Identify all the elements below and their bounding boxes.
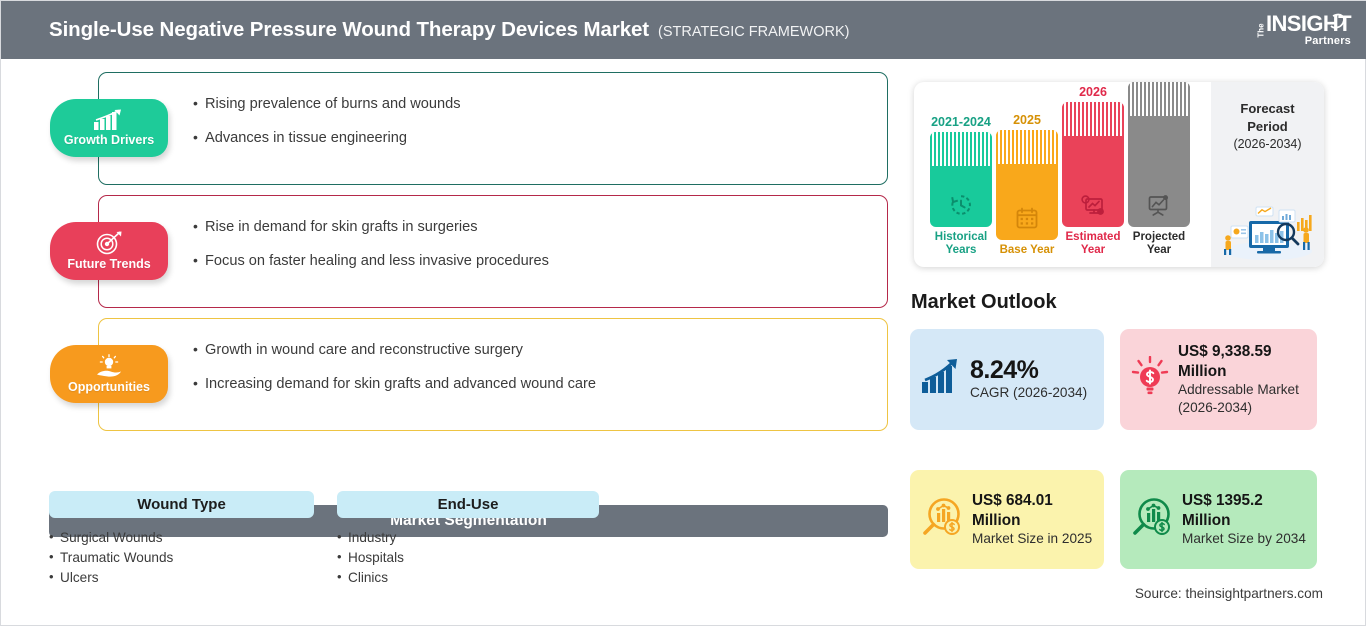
forecast-bars-area: 2021-2024 Historical Years bbox=[914, 82, 1211, 267]
segmentation-column-title-text: End-Use bbox=[438, 496, 499, 513]
page-title: Single-Use Negative Pressure Wound Thera… bbox=[49, 18, 649, 42]
forecast-period-title-line2: Period bbox=[1247, 119, 1287, 134]
driver-badge-opportunities[interactable]: Opportunities bbox=[50, 345, 168, 403]
bullet-item: Rise in demand for skin grafts in surger… bbox=[193, 217, 549, 238]
outlook-card-value: US$ 9,338.59 Million bbox=[1178, 342, 1307, 381]
bar-stripes bbox=[930, 132, 992, 166]
bullet-item: Increasing demand for skin grafts and ad… bbox=[193, 374, 596, 395]
segmentation-column-wound-type: Wound Type Surgical Wounds Traumatic Wou… bbox=[49, 491, 314, 588]
segmentation-column-end-use: End-Use Industry Hospitals Clinics bbox=[337, 491, 599, 588]
list-item: Industry bbox=[337, 528, 599, 548]
bullet-item: Advances in tissue engineering bbox=[193, 128, 461, 149]
logo-the-text: The bbox=[1256, 22, 1265, 38]
header-title-wrap: Single-Use Negative Pressure Wound Thera… bbox=[49, 18, 850, 42]
segmentation-column-title: Wound Type bbox=[49, 491, 314, 518]
forecast-bar-historical-years: 2021-2024 Historical Years bbox=[930, 115, 992, 257]
source-attribution: Source: theinsightpartners.com bbox=[1135, 586, 1323, 601]
outlook-card-market-size-2034[interactable]: US$ 1395.2 Million Market Size by 2034 bbox=[1120, 470, 1317, 569]
driver-badge-label: Future Trends bbox=[67, 257, 150, 271]
list-item: Surgical Wounds bbox=[49, 528, 314, 548]
page-header: Single-Use Negative Pressure Wound Thera… bbox=[1, 1, 1366, 59]
forecast-period-range: (2026-2034) bbox=[1211, 137, 1324, 151]
target-dart-icon bbox=[94, 231, 124, 255]
outlook-card-desc: Market Size by 2034 bbox=[1182, 530, 1307, 548]
list-item: Traumatic Wounds bbox=[49, 548, 314, 568]
calendar-icon bbox=[1015, 206, 1039, 230]
driver-bullets-growth-drivers: Rising prevalence of burns and wounds Ad… bbox=[193, 94, 461, 162]
segmentation-list: Industry Hospitals Clinics bbox=[337, 528, 599, 588]
outlook-card-market-size-2025[interactable]: US$ 684.01 Million Market Size in 2025 bbox=[910, 470, 1104, 569]
outlook-card-text: US$ 1395.2 Million Market Size by 2034 bbox=[1182, 491, 1307, 548]
list-item: Hospitals bbox=[337, 548, 599, 568]
bar-chart-growth-icon bbox=[92, 109, 126, 131]
estimate-gear-chart-icon bbox=[1080, 193, 1106, 217]
logo-swoosh-icon bbox=[1321, 12, 1347, 42]
segmentation-column-title-text: Wound Type bbox=[137, 496, 226, 513]
growth-bar-arrow-icon bbox=[920, 358, 962, 401]
insight-partners-logo: The INSIGHT Partners bbox=[1231, 9, 1351, 51]
driver-badge-future-trends[interactable]: Future Trends bbox=[50, 222, 168, 280]
outlook-card-addressable-market[interactable]: US$ 9,338.59 Million Addressable Market … bbox=[1120, 329, 1317, 430]
bar-body bbox=[996, 130, 1058, 240]
forecast-period-title-line1: Forecast bbox=[1240, 101, 1294, 116]
segmentation-list: Surgical Wounds Traumatic Wounds Ulcers bbox=[49, 528, 314, 588]
bullet-item: Rising prevalence of burns and wounds bbox=[193, 94, 461, 115]
forecast-period-title: Forecast Period bbox=[1211, 100, 1324, 135]
outlook-card-value: 8.24% bbox=[970, 357, 1087, 385]
list-item: Clinics bbox=[337, 568, 599, 588]
bar-category-label: Historical Years bbox=[930, 231, 992, 257]
bar-stripes bbox=[996, 130, 1058, 164]
bullet-item: Focus on faster healing and less invasiv… bbox=[193, 251, 549, 272]
forecast-bar-estimated-year: 2026 Estimated bbox=[1062, 85, 1124, 257]
bar-body bbox=[1128, 82, 1190, 227]
bar-stripes bbox=[1128, 82, 1190, 116]
bar-year-label: 2026 bbox=[1062, 85, 1124, 99]
right-column: 2021-2024 Historical Years bbox=[901, 59, 1366, 626]
outlook-card-text: US$ 9,338.59 Million Addressable Market … bbox=[1178, 342, 1307, 417]
market-outlook-heading: Market Outlook bbox=[911, 291, 1057, 314]
bar-stripes bbox=[1062, 102, 1124, 136]
outlook-card-cagr[interactable]: 8.24% CAGR (2026-2034) bbox=[910, 329, 1104, 430]
header-accent-strip bbox=[1, 1, 11, 59]
bar-body bbox=[930, 132, 992, 227]
outlook-card-text: US$ 684.01 Million Market Size in 2025 bbox=[972, 491, 1094, 548]
bar-category-label: Estimated Year bbox=[1062, 231, 1124, 257]
driver-bullets-future-trends: Rise in demand for skin grafts in surger… bbox=[193, 217, 549, 285]
outlook-card-desc: CAGR (2026-2034) bbox=[970, 384, 1087, 402]
driver-bullets-opportunities: Growth in wound care and reconstructive … bbox=[193, 340, 596, 408]
analytics-dashboard-illustration bbox=[1219, 199, 1317, 261]
bar-year-label: 2025 bbox=[996, 113, 1058, 127]
dollar-lightbulb-icon bbox=[1130, 356, 1170, 403]
lightbulb-hand-icon bbox=[93, 354, 125, 378]
magnifier-chart-dollar-icon bbox=[1130, 496, 1174, 543]
forecast-timeline-card: 2021-2024 Historical Years bbox=[914, 82, 1324, 267]
outlook-card-desc: Addressable Market (2026-2034) bbox=[1178, 381, 1307, 417]
outlook-card-desc: Market Size in 2025 bbox=[972, 530, 1094, 548]
bar-category-label: Base Year bbox=[996, 244, 1058, 257]
bar-category-label: Projected Year bbox=[1128, 231, 1190, 257]
driver-badge-growth-drivers[interactable]: Growth Drivers bbox=[50, 99, 168, 157]
forecast-bar-base-year: 2025 bbox=[996, 113, 1058, 257]
outlook-card-value: US$ 1395.2 Million bbox=[1182, 491, 1307, 530]
list-item: Ulcers bbox=[49, 568, 314, 588]
infographic-page: Single-Use Negative Pressure Wound Thera… bbox=[0, 0, 1366, 626]
magnifier-chart-dollar-icon bbox=[920, 496, 964, 543]
forecast-bar-projected-year: 2034 Projected Year bbox=[1128, 82, 1190, 257]
left-column: Growth Drivers Rising prevalence of burn… bbox=[1, 59, 901, 626]
history-clock-icon bbox=[949, 193, 973, 217]
bullet-item: Growth in wound care and reconstructive … bbox=[193, 340, 596, 361]
bar-body bbox=[1062, 102, 1124, 227]
forecast-period-panel: Forecast Period (2026-2034) bbox=[1211, 82, 1324, 267]
driver-badge-label: Opportunities bbox=[68, 380, 150, 394]
driver-badge-label: Growth Drivers bbox=[64, 133, 154, 147]
presentation-screen-icon bbox=[1146, 193, 1172, 217]
outlook-card-text: 8.24% CAGR (2026-2034) bbox=[970, 357, 1087, 402]
outlook-card-value: US$ 684.01 Million bbox=[972, 491, 1094, 530]
bar-year-label: 2021-2024 bbox=[930, 115, 992, 129]
page-subtitle: (STRATEGIC FRAMEWORK) bbox=[658, 24, 849, 40]
segmentation-column-title: End-Use bbox=[337, 491, 599, 518]
